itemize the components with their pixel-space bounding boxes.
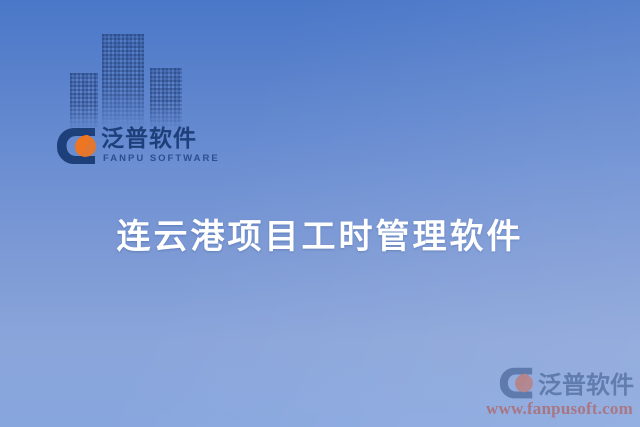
skyline-window-speckle [150,68,182,130]
watermark-brand-row: 泛普软件 [486,365,634,400]
skyline-window-speckle [102,34,144,130]
header-logo-brand-cn: 泛普软件 [101,128,220,151]
skyline-building-left [70,73,98,130]
watermark: 泛普软件 www.fanpusoft.com [486,365,634,419]
skyline-window-speckle [70,73,98,130]
watermark-url: www.fanpusoft.com [486,399,634,419]
slide-canvas: 泛普软件 FANPU SOFTWARE 连云港项目工时管理软件 泛普软件 www… [0,0,640,427]
skyline-building-right [150,68,182,130]
slide-title: 连云港项目工时管理软件 [0,209,640,258]
header-logo-lockup: 泛普软件 FANPU SOFTWARE [55,126,220,166]
watermark-brand-cn: 泛普软件 [538,365,634,400]
header-logo-brand-en: FANPU SOFTWARE [103,154,220,164]
header-logo-wordmark: 泛普软件 FANPU SOFTWARE [101,128,220,164]
skyline-building-center [102,34,144,130]
fanpu-logo-mark-icon [496,366,536,400]
fanpu-logo-mark-icon [55,126,97,166]
dotted-building-skyline [70,34,185,130]
